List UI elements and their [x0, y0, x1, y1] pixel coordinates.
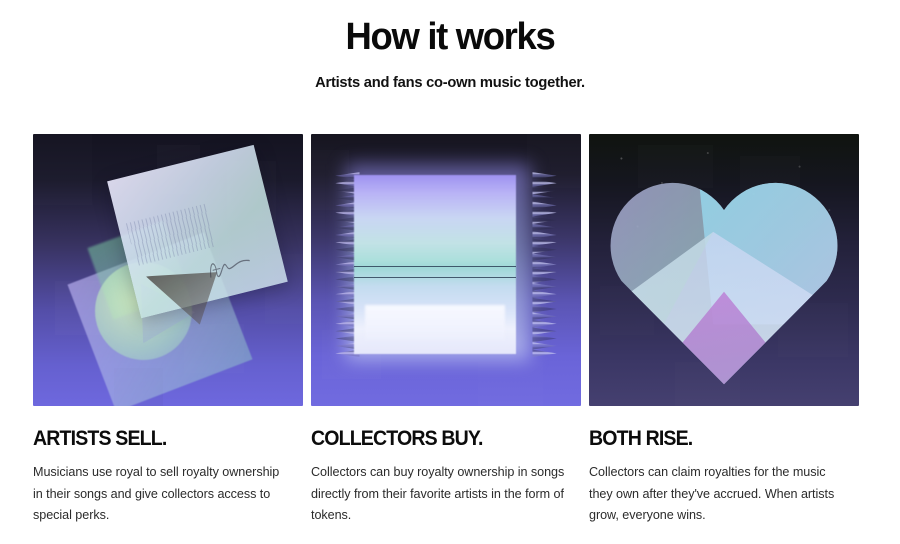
rotated-translucent-sheets-artwork	[33, 134, 303, 406]
how-it-works-section: How it works Artists and fans co-own mus…	[0, 0, 900, 544]
card-body: Collectors can buy royalty ownership in …	[311, 462, 569, 527]
heart-icon	[589, 134, 859, 406]
stack-seam	[354, 266, 516, 268]
card-caption: ARTISTS SELL. Musicians use royal to sel…	[33, 406, 303, 527]
card-artists-sell[interactable]: ARTISTS SELL. Musicians use royal to sel…	[33, 134, 303, 527]
card-both-rise[interactable]: BOTH RISE. Collectors can claim royaltie…	[589, 134, 859, 527]
cards-grid: ARTISTS SELL. Musicians use royal to sel…	[33, 134, 859, 527]
card-heading: COLLECTORS BUY.	[311, 427, 562, 450]
card-collectors-buy[interactable]: COLLECTORS BUY. Collectors can buy royal…	[311, 134, 581, 527]
card-heading: BOTH RISE.	[589, 427, 840, 450]
layered-sawtooth-stack-artwork	[311, 134, 581, 406]
card-body: Collectors can claim royalties for the m…	[589, 462, 847, 527]
card-caption: COLLECTORS BUY. Collectors can buy royal…	[311, 406, 581, 527]
card-caption: BOTH RISE. Collectors can claim royaltie…	[589, 406, 859, 527]
stack-highlight	[365, 305, 505, 340]
section-header: How it works Artists and fans co-own mus…	[0, 0, 900, 91]
translucent-heart-artwork	[589, 134, 859, 406]
stack-seam	[354, 277, 516, 279]
card-heading: ARTISTS SELL.	[33, 427, 284, 450]
page-title: How it works	[18, 18, 882, 58]
card-body: Musicians use royal to sell royalty owne…	[33, 462, 291, 527]
page-subtitle: Artists and fans co-own music together.	[9, 74, 891, 91]
